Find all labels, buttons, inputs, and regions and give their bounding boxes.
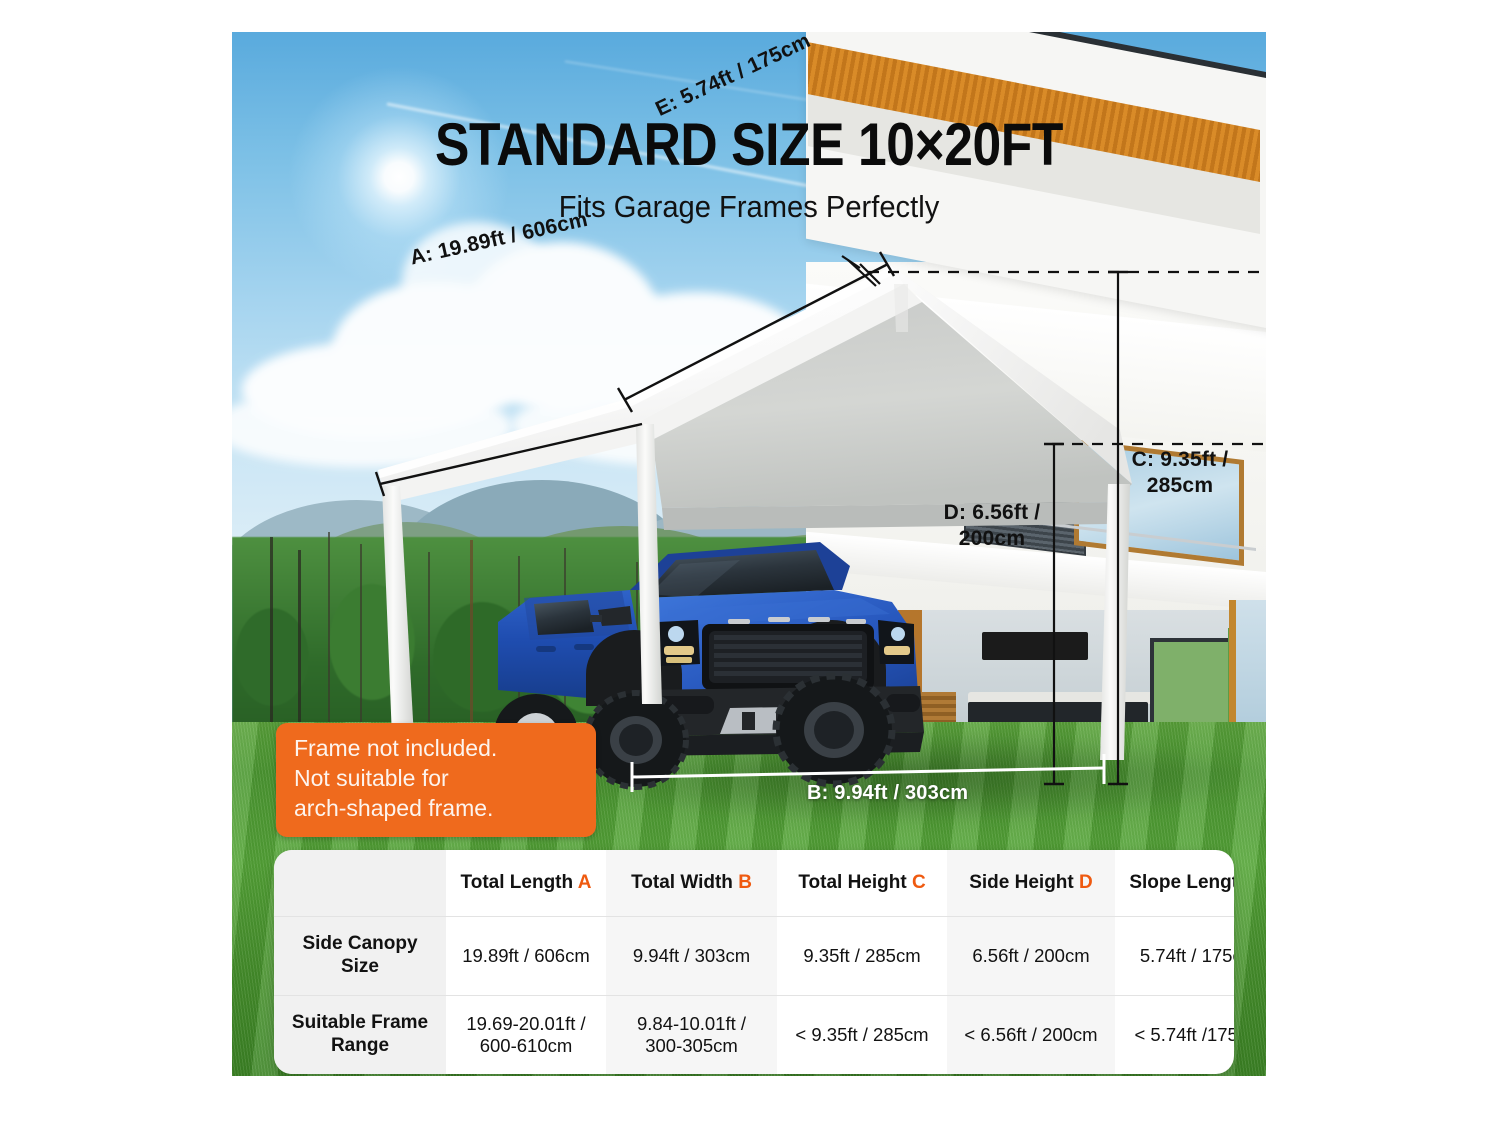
cell-line-1: < 6.56ft / 200cm bbox=[951, 1024, 1111, 1046]
row-label-line-2: Range bbox=[278, 1035, 442, 1058]
cell-width-range: 9.84-10.01ft / 300-305cm bbox=[606, 996, 777, 1075]
page-subtitle: Fits Garage Frames Perfectly bbox=[263, 189, 1235, 225]
cell-height-size: 9.35ft / 285cm bbox=[777, 917, 947, 996]
header-text: Total Width bbox=[631, 872, 733, 893]
row-label-line-1: Side Canopy bbox=[278, 933, 442, 956]
cell-line-1: 9.84-10.01ft / bbox=[610, 1013, 773, 1035]
header-text: Total Length bbox=[461, 872, 574, 893]
row-label-line-1: Suitable Frame bbox=[278, 1012, 442, 1035]
cell-line-1: 9.35ft / 285cm bbox=[781, 945, 943, 967]
cell-line-1: < 5.74ft /175cm bbox=[1119, 1024, 1234, 1046]
header-letter-c: C bbox=[912, 872, 926, 893]
row-label-side-canopy-size: Side Canopy Size bbox=[274, 917, 446, 996]
header-text: Side Height bbox=[969, 872, 1074, 893]
cell-line-1: 19.69-20.01ft / bbox=[450, 1013, 602, 1035]
table-header-row: Total Length A Total Width B Total Heigh… bbox=[274, 850, 1234, 917]
spec-table: Total Length A Total Width B Total Heigh… bbox=[274, 850, 1234, 1074]
warning-callout: Frame not included. Not suitable for arc… bbox=[276, 723, 596, 837]
row-label-suitable-frame-range: Suitable Frame Range bbox=[274, 996, 446, 1075]
row-label-line-2: Size bbox=[278, 956, 442, 979]
header-corner bbox=[274, 850, 446, 917]
table-row: Suitable Frame Range 19.69-20.01ft / 600… bbox=[274, 996, 1234, 1075]
header-total-length: Total Length A bbox=[446, 850, 606, 917]
header-side-height: Side Height D bbox=[947, 850, 1115, 917]
product-infographic: A: 19.89ft / 606cm E: 5.74ft / 175cm C: … bbox=[0, 0, 1500, 1125]
header-text: Total Height bbox=[798, 872, 906, 893]
cell-line-1: 6.56ft / 200cm bbox=[951, 945, 1111, 967]
header-text: Slope Length bbox=[1129, 872, 1234, 893]
cell-side-height-range: < 6.56ft / 200cm bbox=[947, 996, 1115, 1075]
cell-slope-range: < 5.74ft /175cm bbox=[1115, 996, 1234, 1075]
cell-line-1: < 9.35ft / 285cm bbox=[781, 1024, 943, 1046]
header-slope-length: Slope Length E bbox=[1115, 850, 1234, 917]
cell-length-size: 19.89ft / 606cm bbox=[446, 917, 606, 996]
cell-line-1: 19.89ft / 606cm bbox=[450, 945, 602, 967]
header-letter-b: B bbox=[738, 872, 752, 893]
cell-side-height-size: 6.56ft / 200cm bbox=[947, 917, 1115, 996]
callout-line-2: Not suitable for bbox=[294, 764, 580, 794]
header-total-width: Total Width B bbox=[606, 850, 777, 917]
header-total-height: Total Height C bbox=[777, 850, 947, 917]
cell-line-1: 9.94ft / 303cm bbox=[610, 945, 773, 967]
table-row: Side Canopy Size 19.89ft / 606cm 9.94ft … bbox=[274, 917, 1234, 996]
cell-line-1: 5.74ft / 175cm bbox=[1119, 945, 1234, 967]
cell-line-2: 300-305cm bbox=[610, 1035, 773, 1057]
cell-width-size: 9.94ft / 303cm bbox=[606, 917, 777, 996]
page-title: STANDARD SIZE 10×20FT bbox=[304, 110, 1193, 179]
cell-length-range: 19.69-20.01ft / 600-610cm bbox=[446, 996, 606, 1075]
header-letter-d: D bbox=[1079, 872, 1093, 893]
header-letter-a: A bbox=[578, 872, 592, 893]
cell-height-range: < 9.35ft / 285cm bbox=[777, 996, 947, 1075]
scene-photo: A: 19.89ft / 606cm E: 5.74ft / 175cm C: … bbox=[232, 32, 1266, 1076]
callout-line-3: arch-shaped frame. bbox=[294, 794, 580, 824]
callout-line-1: Frame not included. bbox=[294, 734, 580, 764]
cell-line-2: 600-610cm bbox=[450, 1035, 602, 1057]
cell-slope-size: 5.74ft / 175cm bbox=[1115, 917, 1234, 996]
